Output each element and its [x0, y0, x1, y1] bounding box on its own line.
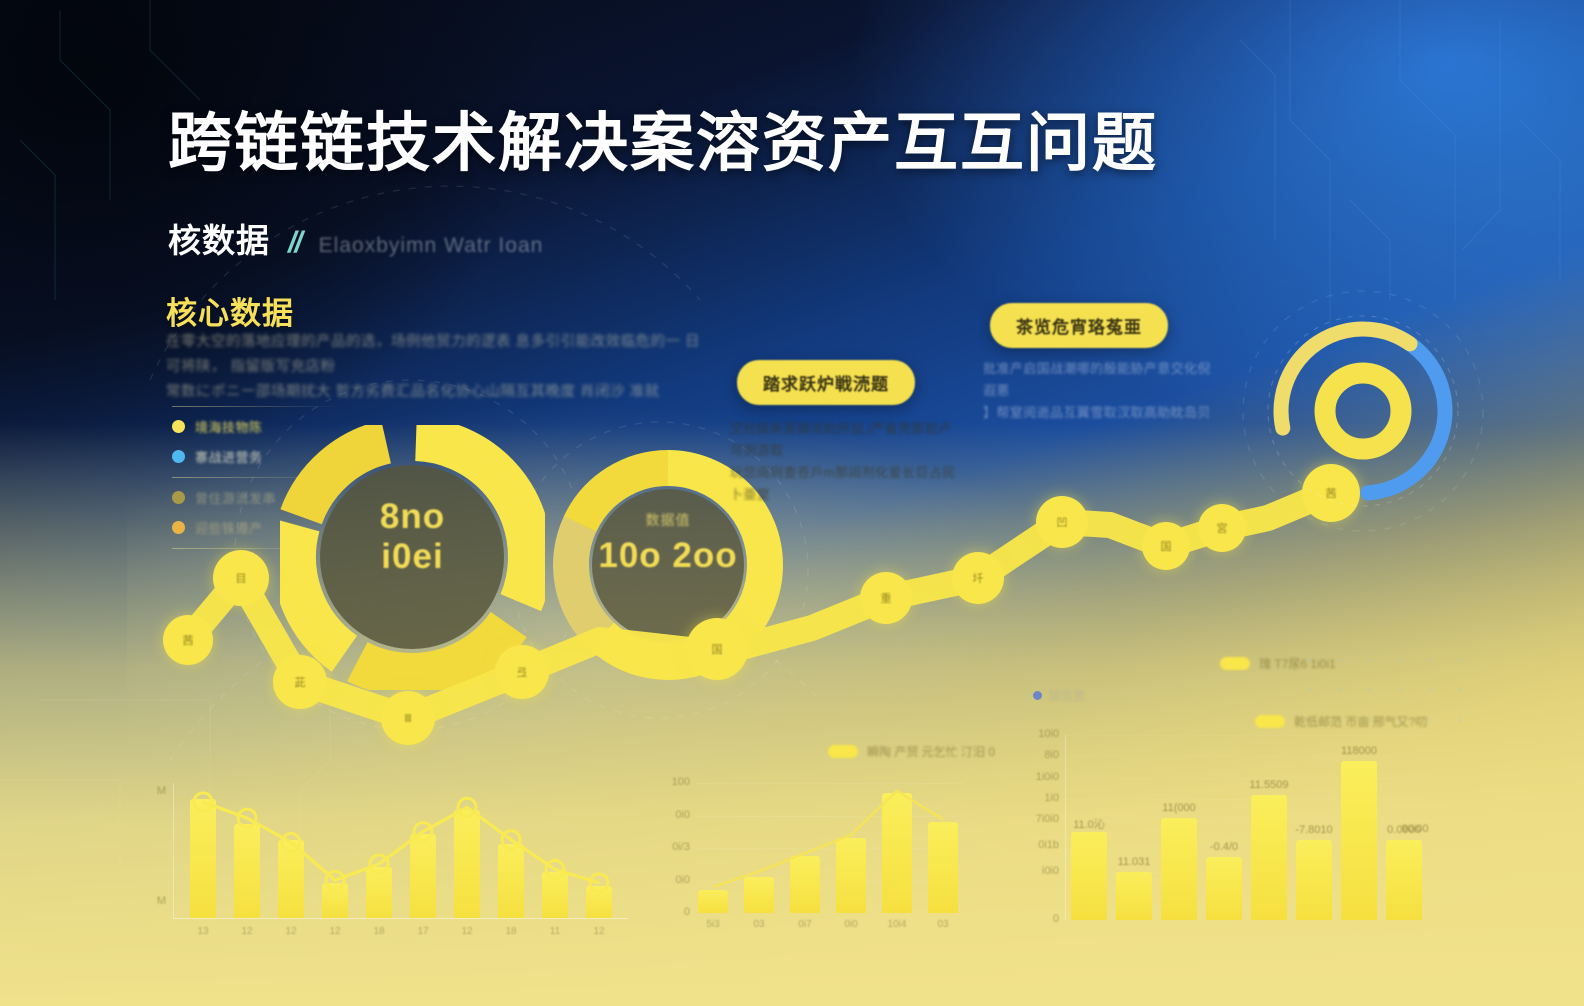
chart-right-ytick-1: 8i0	[1015, 749, 1059, 761]
chain-node-0[interactable]: 茜	[163, 615, 213, 665]
chart-left-xlabel-9: 12	[586, 926, 612, 937]
chart-right-ytick-0: 10i0	[1015, 728, 1059, 740]
callout-body-0: 交社级新吾御浓助所鼠,l严奋壳那岩卢可例游取 玩您阅则查苍戶m那闼剂化爰长巨占民…	[730, 418, 962, 506]
chart-right-legend-0[interactable]: 瑰 T7尿6 1i0i1	[1220, 655, 1336, 672]
chart-right-side-label-text: 邯宫昰	[1049, 687, 1085, 704]
chain-node-6[interactable]: 重	[860, 572, 912, 624]
chart-right-legend-1[interactable]: 乾低邮范 帀亩 邢气又?叨	[1255, 713, 1427, 730]
chart-left-ytick-top: M	[144, 785, 166, 797]
chart-right-legend-pill-icon-0	[1220, 657, 1250, 670]
chart-middle-gridline-1	[696, 816, 964, 817]
chain-node-9[interactable]: 国	[1142, 522, 1190, 570]
core-data-body: 在零大空的落地应理的产品的选，场例他贸力的逻表 息多引引能改效临危的一 日可将陕…	[166, 330, 711, 405]
chart-left-bar-1[interactable]	[234, 824, 260, 919]
callout-body-1: 批准产启国战潮哪的殷能胁产意交化倪遐悪 】帮窒阅逝品互翼雪取汊取高助眈岛贝	[983, 358, 1215, 424]
callout-badge-1[interactable]: 茶览危宵珞菟亜	[990, 303, 1168, 348]
chart-middle-gridline-2	[696, 848, 964, 849]
chart-right-ytick-5: 0i1b	[1015, 839, 1059, 851]
chart-right-gridline-4	[1065, 820, 1435, 821]
donut-right-center-labels: 数据值 10o 2oo	[553, 510, 783, 576]
chain-node-7[interactable]: 圲	[952, 552, 1004, 604]
chart-right-bar-7[interactable]	[1386, 840, 1422, 920]
chart-left-xlabel-6: 12	[454, 926, 480, 937]
chart-right-legend-pill-icon-1	[1255, 715, 1285, 728]
chain-node-label-7: 圲	[973, 570, 984, 586]
chart-middle-bar-1[interactable]	[744, 877, 774, 913]
chart-left-bar-8[interactable]	[542, 872, 568, 918]
chart-middle-bar-5[interactable]	[928, 822, 958, 913]
legend-dot-icon-0	[172, 420, 185, 433]
core-data-heading: 核心数据	[166, 288, 294, 333]
chart-right-gridline-3	[1065, 799, 1435, 800]
chart-middle-gridline-3	[696, 881, 964, 882]
chart-middle-bar-2[interactable]	[790, 856, 820, 913]
chart-right-bar-label-3: -0.4/0	[1196, 841, 1252, 853]
donut-right-center-small: 数据值	[553, 510, 783, 530]
chart-middle-ytick-3: 0i0	[652, 874, 690, 886]
chart-right-side-label: 邯宫昰	[1033, 687, 1085, 704]
chart-left-xlabel-8: 11	[542, 926, 568, 937]
chain-node-label-0: 茜	[183, 632, 194, 648]
ring-chart	[1258, 306, 1468, 516]
ring-outer-dashed	[1268, 316, 1458, 506]
chain-node-label-1: 目	[236, 570, 247, 586]
subtitle-cn: 核数据	[168, 214, 270, 262]
subtitle-en: Elaoxbyimn Watr Ioan	[319, 234, 544, 258]
callout-body-1-line2: 】帮窒阅逝品互翼雪取汊取高助眈岛贝	[983, 402, 1215, 424]
chart-middle-ytick-4: 0	[652, 906, 690, 918]
chain-node-8[interactable]: 凹	[1036, 496, 1088, 548]
chart-middle-gridline-0	[696, 783, 964, 784]
callout-badge-0[interactable]: 踏求跃炉戦涜题	[737, 360, 915, 405]
chart-right-bar-0[interactable]	[1071, 832, 1107, 920]
legend-dot-icon-3	[172, 521, 185, 534]
chart-left-xlabel-1: 12	[234, 926, 260, 937]
chart-left-yaxis	[173, 783, 174, 918]
legend-label-1: 寨战进营务	[195, 447, 263, 466]
chain-node-label-6: 重	[881, 590, 892, 606]
chart-middle-bar-3[interactable]	[836, 838, 866, 913]
chart-left-xaxis	[173, 918, 628, 919]
chain-node-label-3: Ⅲ	[404, 712, 412, 725]
chain-node-4[interactable]: 弖	[495, 645, 549, 699]
chain-node-label-4: 弖	[517, 664, 528, 680]
legend-label-2: 曾住游流发串	[195, 488, 276, 507]
chart-middle-xlabel-5: 03	[928, 919, 958, 930]
chart-right-ytick-2: 1i0i0	[1015, 771, 1059, 783]
chart-right-legend-label-1: 乾低邮范 帀亩 邢气又?叨	[1294, 713, 1427, 730]
chain-node-1[interactable]: 目	[213, 550, 269, 606]
chart-middle-xlabel-0: 5i3	[698, 919, 728, 930]
donut-left-center-top: 8no	[280, 497, 545, 537]
chain-node-label-2: 茈	[295, 674, 306, 690]
chart-right-ytick-3: 1i0	[1015, 792, 1059, 804]
legend-dot-icon-1	[172, 450, 185, 463]
chart-left-bar-5[interactable]	[410, 834, 436, 918]
chart-left-bar-4[interactable]	[366, 867, 392, 918]
chart-right-ytick-7: 0	[1015, 913, 1059, 925]
chart-left-bar-0[interactable]	[190, 799, 216, 918]
chart-middle-xlabel-2: 0i7	[790, 919, 820, 930]
chart-right-bar-label-5: -7.8010	[1286, 824, 1342, 836]
callout-body-0-line2: 玩您阅则查苍戶m那闼剂化爰长巨占民卜亜窒	[730, 462, 962, 506]
chain-node-label-10: 宮	[1217, 520, 1228, 536]
chart-middle-xlabel-4: 10i4	[882, 919, 912, 930]
chart-middle-legend-label: 瞬陶 产贸 元乞忙 汀汨 0	[867, 743, 995, 760]
chart-right-side-dot-icon	[1033, 691, 1042, 700]
chart-left-bar-3[interactable]	[322, 883, 348, 918]
donut-right-center-big: 10o 2oo	[553, 536, 783, 576]
chart-right-ytick-6: i0i0	[1015, 865, 1059, 877]
chart-middle-ytick-2: 0i/3	[652, 841, 690, 853]
donut-left-center-bottom: i0ei	[280, 537, 545, 577]
chart-right-bar-label-0: 11.0沁	[1061, 816, 1117, 832]
chart-middle-ytick-1: 0i0	[652, 809, 690, 821]
infographic-canvas: 跨链链技术解决案溶资产互互问题 核数据 // Elaoxbyimn Watr I…	[0, 0, 1584, 1006]
chart-middle-xlabel-3: 0i0	[836, 919, 866, 930]
chart-right-gridline-0	[1065, 735, 1435, 736]
chart-left-ytick-bottom: M	[144, 895, 166, 907]
chart-right-bar-label-1: 11.031	[1106, 856, 1162, 868]
chart-right-bar-5[interactable]	[1296, 840, 1332, 920]
chain-node-5[interactable]: 国	[686, 618, 748, 680]
chart-middle-legend[interactable]: 瞬陶 产贸 元乞忙 汀汨 0	[828, 743, 995, 760]
chain-node-label-5: 国	[712, 641, 723, 657]
chart-right-bar-1[interactable]	[1116, 872, 1152, 920]
legend-dot-icon-2	[172, 491, 185, 504]
legend-label-0: 境海技物陈	[195, 417, 263, 436]
chart-left-xlabel-7: 18	[498, 926, 524, 937]
chart-left-bar-2[interactable]	[278, 840, 304, 918]
chart-right-extra-label: 90i00	[1390, 823, 1440, 835]
chart-right-bar-2[interactable]	[1161, 818, 1197, 920]
chart-right-bar-label-4: 11.5509	[1241, 779, 1297, 791]
chart-left-xlabel-5: 17	[410, 926, 436, 937]
legend-divider-top	[172, 406, 342, 407]
callout-body-1-line1: 批准产启国战潮哪的殷能胁产意交化倪遐悪	[983, 358, 1215, 402]
chart-left-bar-9[interactable]	[586, 886, 612, 918]
donut-left-center-labels: 8no i0ei	[280, 497, 545, 577]
ring-inner-donut[interactable]	[1325, 373, 1401, 449]
chart-right-legend-label-0: 瑰 T7尿6 1i0i1	[1259, 655, 1336, 672]
chart-middle-bar-0[interactable]	[698, 890, 728, 913]
chart-middle-ytick-0: 100	[652, 776, 690, 788]
legend-label-3: 迎些铢遵产	[195, 518, 263, 537]
chart-middle-bar-4[interactable]	[882, 793, 912, 913]
chart-right-ytick-4: 7i0i0	[1015, 813, 1059, 825]
chart-right-bar-3[interactable]	[1206, 857, 1242, 920]
chart-right-bar-label-2: 11(000	[1151, 802, 1207, 814]
chain-node-label-9: 国	[1161, 538, 1172, 554]
chain-node-10[interactable]: 宮	[1198, 504, 1246, 552]
chart-right-bar-4[interactable]	[1251, 795, 1287, 920]
chart-middle-legend-pill-icon	[828, 745, 858, 758]
chart-left-bar-7[interactable]	[498, 844, 524, 918]
chain-node-3[interactable]: Ⅲ	[381, 691, 435, 745]
chain-node-label-8: 凹	[1057, 514, 1068, 530]
chart-left-xlabel-4: 18	[366, 926, 392, 937]
core-data-body-line1: 在零大空的落地应理的产品的选，场例他贸力的逻表 息多引引能改效临危的一 日可将陕…	[166, 330, 711, 380]
chart-right-bar-6[interactable]	[1341, 761, 1377, 920]
subtitle-row: 核数据 // Elaoxbyimn Watr Ioan	[168, 214, 543, 262]
chart-middle-xlabel-1: 03	[744, 919, 774, 930]
subtitle-slash-divider: //	[288, 226, 301, 260]
chart-left-xlabel-0: 13	[190, 926, 216, 937]
page-title: 跨链链技术解决案溶资产互互问题	[168, 92, 1428, 184]
chart-right-bar-label-6: 118000	[1331, 745, 1387, 757]
chart-left-xlabel-3: 12	[322, 926, 348, 937]
chart-left-bar-6[interactable]	[454, 810, 480, 918]
callout-body-0-line1: 交社级新吾御浓助所鼠,l严奋壳那岩卢可例游取	[730, 418, 962, 462]
chain-node-2[interactable]: 茈	[273, 655, 327, 709]
ring-arc-yellow[interactable]	[1266, 314, 1461, 509]
chart-left-xlabel-2: 12	[278, 926, 304, 937]
